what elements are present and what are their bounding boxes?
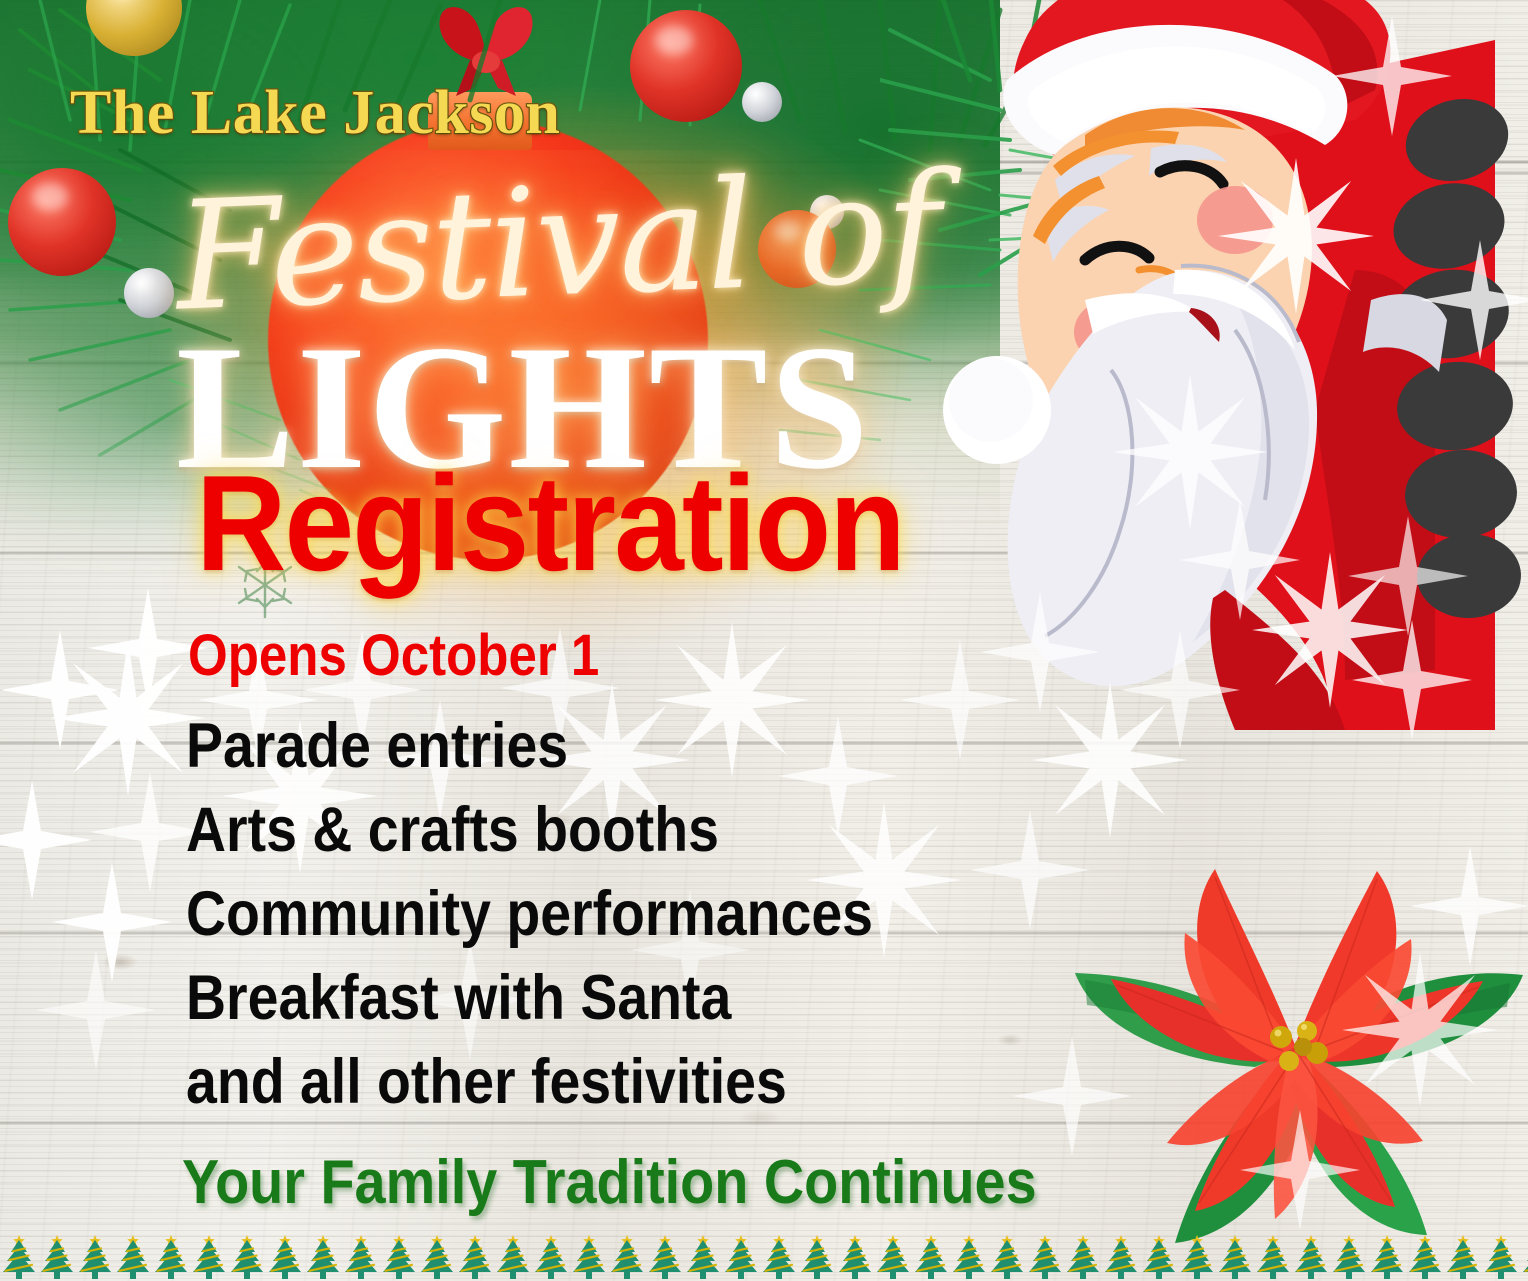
christmas-tree-icon [380, 1229, 418, 1281]
christmas-tree-icon [608, 1229, 646, 1281]
registration-items-list: Parade entries Arts & crafts booths Comm… [186, 704, 1146, 1124]
christmas-tree-icon [228, 1229, 266, 1281]
christmas-tree-icon [114, 1229, 152, 1281]
christmas-tree-icon [342, 1229, 380, 1281]
list-item: Parade entries [186, 704, 1031, 788]
christmas-tree-icon [912, 1229, 950, 1281]
christmas-tree-icon [760, 1229, 798, 1281]
festival-of-lights-poster: The Lake Jackson Festival of LIGHTS Regi… [0, 0, 1528, 1281]
organization-title: The Lake Jackson [70, 78, 560, 149]
christmas-tree-icon [836, 1229, 874, 1281]
christmas-tree-icon [494, 1229, 532, 1281]
list-item: and all other festivities [186, 1040, 1031, 1124]
opens-date-text: Opens October 1 [188, 627, 599, 685]
christmas-tree-icon [646, 1229, 684, 1281]
christmas-tree-icon [304, 1229, 342, 1281]
christmas-tree-icon [1444, 1229, 1482, 1281]
red-bauble-top-right [630, 10, 742, 122]
christmas-tree-icon [1064, 1229, 1102, 1281]
christmas-tree-icon [1178, 1229, 1216, 1281]
christmas-tree-icon [266, 1229, 304, 1281]
christmas-tree-icon [418, 1229, 456, 1281]
red-bauble-small-left [8, 168, 116, 276]
christmas-tree-icon [1216, 1229, 1254, 1281]
christmas-tree-icon [0, 1229, 38, 1281]
christmas-tree-icon [190, 1229, 228, 1281]
silver-bauble-lower-left [124, 268, 174, 318]
christmas-tree-icon [1520, 1229, 1528, 1281]
christmas-tree-icon [152, 1229, 190, 1281]
christmas-tree-icon [798, 1229, 836, 1281]
silver-bauble-mid [742, 82, 782, 122]
christmas-tree-icon [1292, 1229, 1330, 1281]
christmas-tree-icon [1140, 1229, 1178, 1281]
list-item: Community performances [186, 872, 1031, 956]
christmas-tree-icon [1368, 1229, 1406, 1281]
christmas-tree-icon [1406, 1229, 1444, 1281]
event-script-title: Festival of [173, 153, 942, 332]
christmas-tree-border [0, 1225, 1528, 1281]
christmas-tree-icon [38, 1229, 76, 1281]
christmas-tree-icon [456, 1229, 494, 1281]
tagline-text: Your Family Tradition Continues [182, 1152, 1037, 1214]
christmas-tree-icon [950, 1229, 988, 1281]
christmas-tree-icon [1254, 1229, 1292, 1281]
christmas-tree-icon [1330, 1229, 1368, 1281]
list-item: Breakfast with Santa [186, 956, 1031, 1040]
christmas-tree-icon [722, 1229, 760, 1281]
christmas-tree-icon [1026, 1229, 1064, 1281]
headline-registration: Registration [196, 455, 904, 591]
christmas-tree-icon [570, 1229, 608, 1281]
christmas-tree-icon [532, 1229, 570, 1281]
christmas-tree-icon [76, 1229, 114, 1281]
santa-claus-illustration [935, 0, 1528, 760]
christmas-tree-icon [874, 1229, 912, 1281]
list-item: Arts & crafts booths [186, 788, 1031, 872]
christmas-tree-icon [1102, 1229, 1140, 1281]
christmas-tree-icon [1482, 1229, 1520, 1281]
christmas-tree-icon [684, 1229, 722, 1281]
christmas-tree-icon [988, 1229, 1026, 1281]
